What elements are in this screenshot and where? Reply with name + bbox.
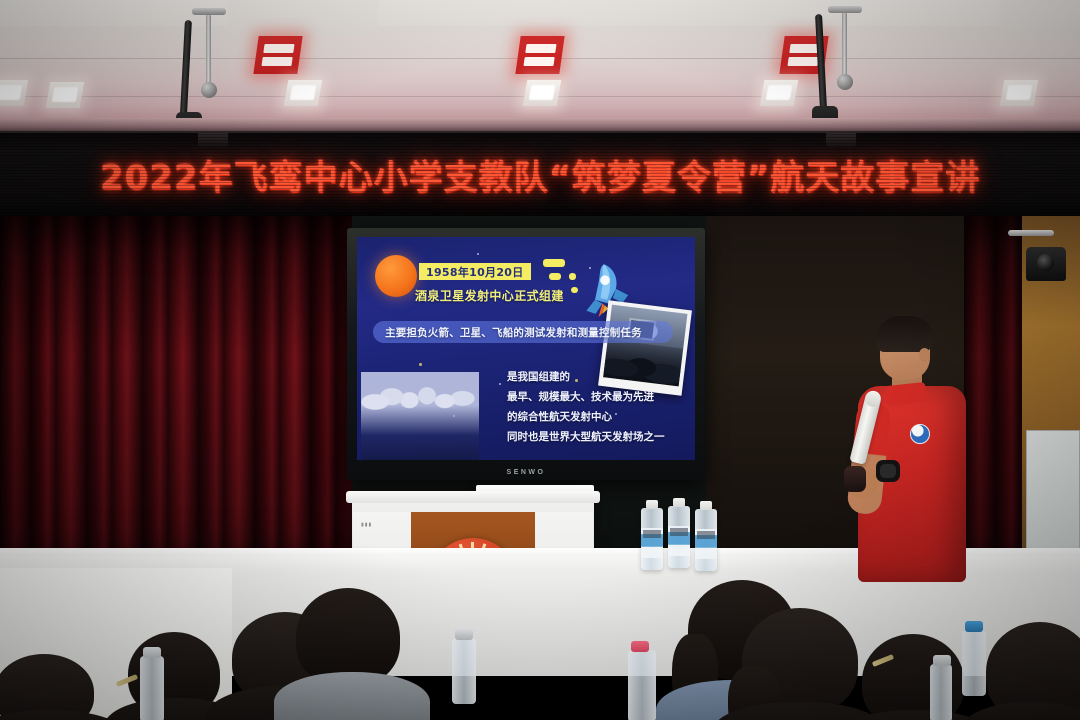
ceiling-light-red-2 — [515, 36, 564, 74]
audience-bottle-2-cap — [455, 629, 473, 640]
audience-shoulders-4 — [274, 672, 430, 720]
led-banner-text: 2022年飞鸾中心小学支教队“筑梦夏令营”航天故事宣讲 — [100, 150, 980, 199]
mount-knuckle-left — [201, 82, 217, 98]
wall-mounted-camera — [1026, 247, 1066, 281]
screen-brand-label: SENWO — [507, 469, 546, 476]
presenter — [836, 320, 976, 582]
ceiling-soffit-left — [228, 0, 378, 36]
group-photo-image — [361, 372, 479, 460]
ceiling-light-white-5 — [760, 80, 799, 106]
stage-curtain-left — [0, 216, 352, 581]
sun-graphic — [375, 255, 417, 297]
presenter-collar — [885, 382, 927, 406]
presenter-hair — [876, 316, 934, 352]
podium-top-surface — [346, 491, 600, 503]
slide-highlight-band: 主要担负火箭、卫星、飞船的测试发射和测量控制任务 — [373, 321, 673, 343]
presenter-ear — [919, 348, 930, 362]
screen-display-area: 1958年10月20日 酒泉卫星发射中心正式组建 主要担负火箭、卫星、飞船的测试… — [357, 237, 695, 460]
audience-row — [0, 560, 1080, 720]
banner-bracket-right — [826, 131, 856, 147]
chest-badge — [910, 424, 930, 444]
ceiling-light-white-1 — [0, 80, 28, 106]
audience-bottle-4-cap — [965, 621, 983, 632]
ceiling-soffit-right — [1000, 0, 1080, 36]
camera-mount-arm — [1008, 230, 1054, 236]
mount-knuckle-right — [837, 74, 853, 90]
audience-bottle-4 — [962, 630, 986, 696]
slide-band-text: 主要担负火箭、卫星、飞船的测试发射和测量控制任务 — [385, 325, 642, 340]
audience-bottle-5-cap — [933, 655, 951, 666]
led-banner: 2022年飞鸾中心小学支教队“筑梦夏令营”航天故事宣讲 — [0, 131, 1080, 219]
slide-date-highlight: 1958年10月20日 — [419, 263, 531, 280]
slide-body-text: 是我国组建的 最早、规模最大、技术最为先进 的综合性航天发射中心 同时也是世界大… — [507, 369, 665, 444]
stage-bottle-1-label — [641, 528, 663, 558]
slide-accent-blob-2 — [549, 273, 561, 280]
slide-body-line-4: 同时也是世界大型航天发射场之一 — [507, 429, 665, 444]
mount-plate-right — [828, 6, 862, 13]
wrist-watch — [876, 460, 900, 482]
slide-body-line-1: 是我国组建的 — [507, 369, 665, 384]
ceiling — [0, 0, 1080, 132]
audience-bottle-1 — [140, 656, 164, 720]
audience-shoulders-8 — [962, 702, 1080, 720]
podium-side-marking: ▮▮▮ — [361, 522, 372, 528]
ceiling-light-red-1 — [253, 36, 302, 74]
stage-bottle-3-label — [695, 529, 717, 559]
presentation-clicker[interactable] — [844, 466, 866, 492]
audience-bottle-5 — [930, 664, 952, 720]
right-wall-panel — [1026, 430, 1080, 562]
curtain-shade-left — [0, 216, 352, 581]
stage-bottle-2-cap — [673, 498, 685, 507]
auditorium-scene: 2022年飞鸾中心小学支教队“筑梦夏令营”航天故事宣讲 — [0, 0, 1080, 720]
audience-bottle-3-cap — [631, 641, 649, 652]
audience-bottle-3 — [628, 650, 656, 720]
stage-bottle-2 — [668, 506, 690, 568]
audience-bottle-1-cap — [143, 647, 161, 658]
ceiling-light-white-4 — [523, 80, 562, 106]
audience-bottle-2 — [452, 638, 476, 704]
stage-bottle-1-cap — [646, 500, 658, 509]
slide-body-line-2: 最早、规模最大、技术最为先进 — [507, 389, 665, 404]
projection-screen[interactable]: 1958年10月20日 酒泉卫星发射中心正式组建 主要担负火箭、卫星、飞船的测试… — [347, 228, 705, 480]
mount-rod-thin-left — [206, 14, 211, 90]
ceiling-light-white-7 — [46, 82, 85, 108]
stage-bottle-2-label — [668, 526, 690, 556]
mount-plate-left — [192, 8, 226, 15]
ceiling-beam — [0, 0, 1080, 26]
slide-subtitle: 酒泉卫星发射中心正式组建 — [415, 287, 564, 304]
slide-accent-blob-1 — [543, 259, 565, 267]
ceiling-light-white-6 — [1000, 80, 1039, 106]
slide-body-line-3: 的综合性航天发射中心 — [507, 409, 665, 424]
ceiling-light-white-3 — [284, 80, 323, 106]
stage-bottle-3-cap — [700, 501, 712, 510]
banner-bracket-left — [198, 131, 228, 147]
